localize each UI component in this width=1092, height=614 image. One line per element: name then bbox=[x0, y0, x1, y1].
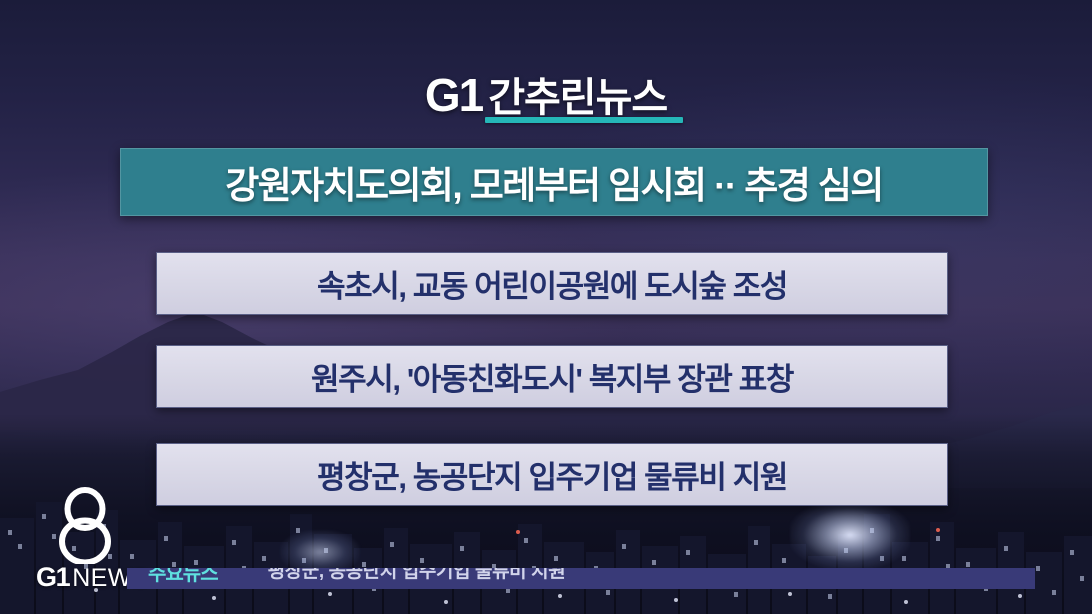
headline-bar-2: 속초시, 교동 어린이공원에 도시숲 조성 bbox=[156, 252, 948, 315]
headline-bar-4: 평창군, 농공단지 입주기업 물류비 지원 bbox=[156, 443, 948, 506]
headline-bar-lead: 강원자치도의회, 모레부터 임시회 ·· 추경 심의 bbox=[120, 148, 988, 216]
program-masthead: G1 간추린뉴스 bbox=[0, 66, 1092, 120]
headline-text-3: 원주시, '아동친화도시' 복지부 장관 표창 bbox=[311, 354, 793, 399]
headline-text-1: 강원자치도의회, 모레부터 임시회 ·· 추경 심의 bbox=[225, 155, 882, 209]
channel-logo-text: G1 bbox=[425, 72, 482, 118]
headline-text-4: 평창군, 농공단지 입주기업 물류비 지원 bbox=[317, 452, 787, 497]
number-eight-icon bbox=[54, 486, 116, 564]
ticker-category-label: 주요뉴스 bbox=[148, 568, 218, 584]
headline-text-2: 속초시, 교동 어린이공원에 도시숲 조성 bbox=[317, 261, 787, 306]
masthead-underline-accent bbox=[485, 117, 683, 123]
headline-bar-3: 원주시, '아동친화도시' 복지부 장관 표창 bbox=[156, 345, 948, 408]
news-ticker-bar: 주요뉴스 평창군, 농공단지 입주기업 물류비 지원 bbox=[127, 568, 1035, 589]
program-title: 간추린뉴스 bbox=[488, 78, 667, 120]
city-light-glare bbox=[790, 500, 910, 570]
broadcast-screen: G1 간추린뉴스 강원자치도의회, 모레부터 임시회 ·· 추경 심의 속초시,… bbox=[0, 0, 1092, 614]
bug-brand-g1: G1 bbox=[36, 562, 69, 592]
ticker-scrolling-text: 평창군, 농공단지 입주기업 물류비 지원 bbox=[268, 568, 566, 581]
